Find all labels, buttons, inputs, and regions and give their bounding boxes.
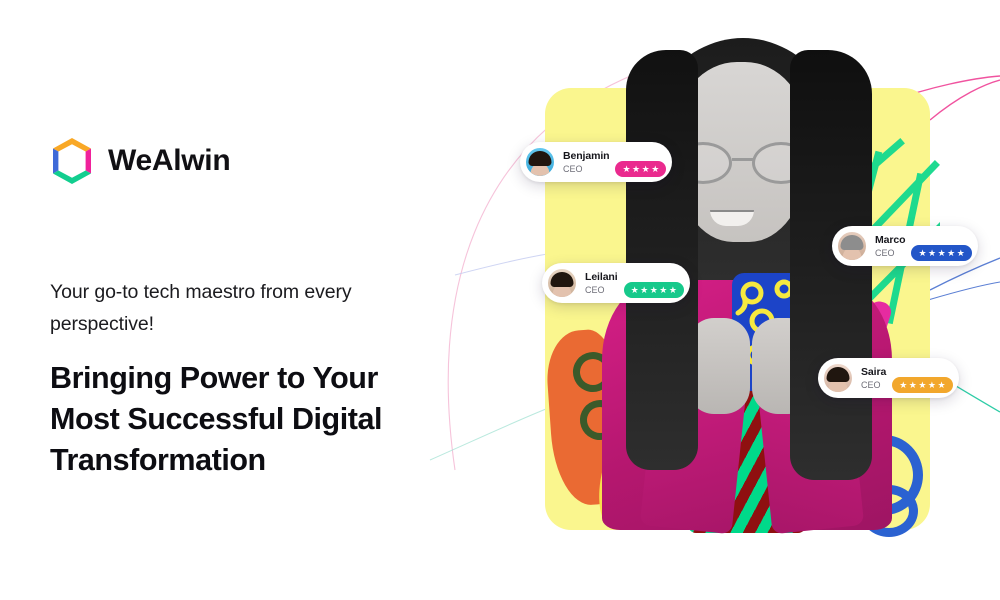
rating-badge: ★★★★★ <box>624 282 684 298</box>
testimonial-name: Saira <box>861 366 886 379</box>
star-icon: ★ <box>899 381 907 390</box>
brand-logo[interactable]: WeAlwin <box>50 136 230 186</box>
avatar-marco <box>836 230 868 262</box>
star-icon: ★ <box>650 286 658 295</box>
hair-strand-shape <box>626 50 698 470</box>
testimonial-role: CEO <box>861 379 886 391</box>
rating-badge: ★★★★ <box>615 161 666 177</box>
star-icon: ★ <box>669 286 677 295</box>
star-icon: ★ <box>928 381 936 390</box>
star-icon: ★ <box>918 249 926 258</box>
star-icon: ★ <box>957 249 965 258</box>
star-icon: ★ <box>938 381 946 390</box>
testimonial-name: Marco <box>875 234 905 247</box>
brand-name: WeAlwin <box>108 144 230 178</box>
hero-tagline: Your go-to tech maestro from every persp… <box>50 276 440 340</box>
page-title: Bringing Power to Your Most Successful D… <box>50 358 450 481</box>
star-icon: ★ <box>632 165 640 174</box>
star-icon: ★ <box>928 249 936 258</box>
rating-badge: ★★★★★ <box>911 245 971 261</box>
avatar-saira <box>822 362 854 394</box>
testimonial-card-benjamin[interactable]: Benjamin CEO ★★★★ <box>520 142 672 182</box>
star-icon: ★ <box>640 286 648 295</box>
hexagon-logo-icon <box>50 136 94 186</box>
avatar-leilani <box>546 267 578 299</box>
testimonial-card-marco[interactable]: Marco CEO ★★★★★ <box>832 226 978 266</box>
star-icon: ★ <box>651 165 659 174</box>
testimonial-role: CEO <box>875 247 905 259</box>
rating-badge: ★★★★★ <box>892 377 952 393</box>
hero-illustration <box>430 30 1000 575</box>
testimonial-name: Leilani <box>585 271 618 284</box>
testimonial-name: Benjamin <box>563 150 609 163</box>
star-icon: ★ <box>642 165 650 174</box>
star-icon: ★ <box>622 165 630 174</box>
star-icon: ★ <box>918 381 926 390</box>
avatar-benjamin <box>524 146 556 178</box>
testimonial-role: CEO <box>585 284 618 296</box>
testimonial-role: CEO <box>563 163 609 175</box>
star-icon: ★ <box>947 249 955 258</box>
star-icon: ★ <box>909 381 917 390</box>
testimonial-card-saira[interactable]: Saira CEO ★★★★★ <box>818 358 959 398</box>
star-icon: ★ <box>659 286 667 295</box>
star-icon: ★ <box>631 286 639 295</box>
testimonial-card-leilani[interactable]: Leilani CEO ★★★★★ <box>542 263 690 303</box>
hero-left-column: WeAlwin Your go-to tech maestro from eve… <box>50 0 480 600</box>
star-icon: ★ <box>938 249 946 258</box>
